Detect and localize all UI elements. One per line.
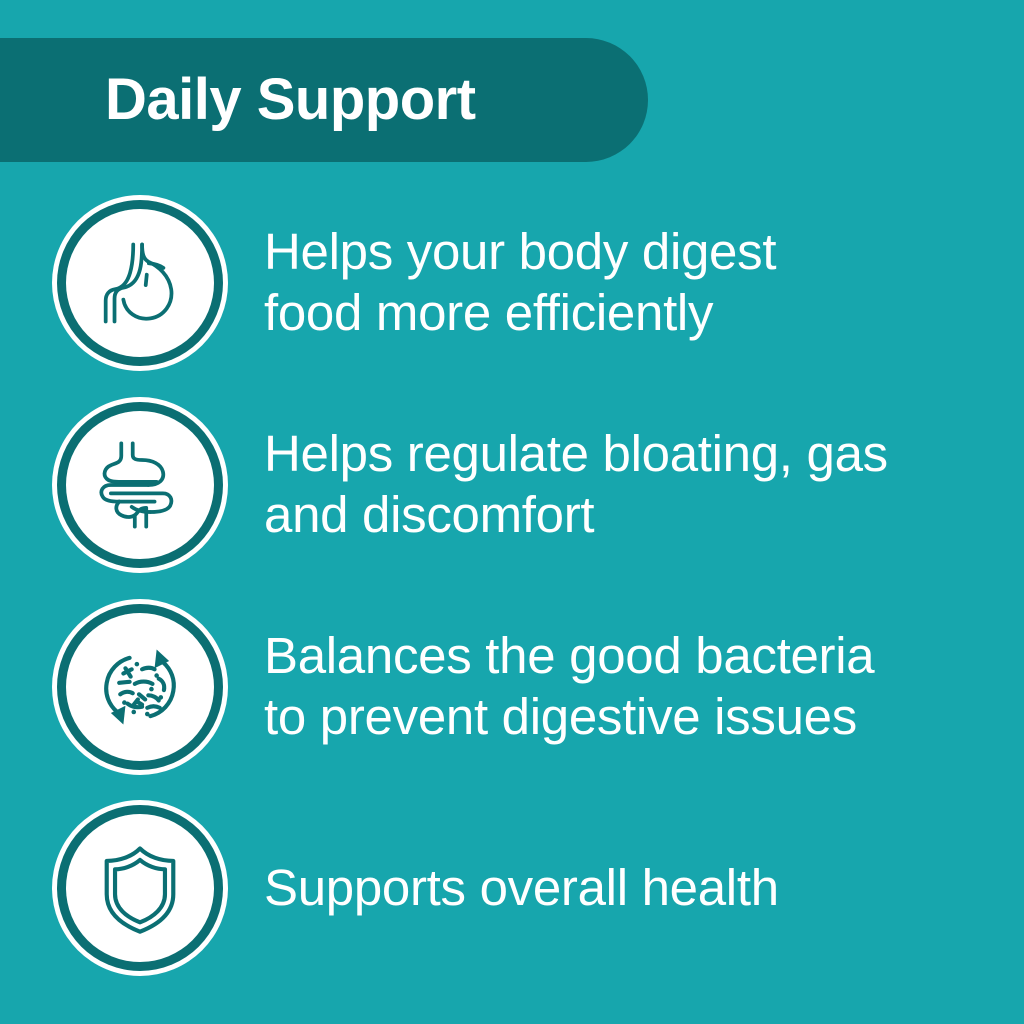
stomach-icon: [88, 231, 192, 335]
icon-badge: [52, 195, 228, 371]
benefit-line-2: and discomfort: [264, 485, 888, 546]
benefit-line-1: Supports overall health: [264, 858, 779, 919]
header-banner: Daily Support: [0, 38, 648, 162]
icon-badge: [52, 397, 228, 573]
benefit-item: Balances the good bacteria to prevent di…: [0, 586, 1024, 788]
benefit-line-1: Helps regulate bloating, gas: [264, 424, 888, 485]
benefit-text: Helps regulate bloating, gas and discomf…: [264, 424, 888, 545]
benefit-list: Helps your body digest food more efficie…: [0, 182, 1024, 988]
bacteria-balance-icon: [88, 635, 192, 739]
benefit-item: Helps regulate bloating, gas and discomf…: [0, 384, 1024, 586]
benefit-line-1: Balances the good bacteria: [264, 626, 874, 687]
benefit-line-1: Helps your body digest: [264, 222, 776, 283]
benefit-line-2: to prevent digestive issues: [264, 687, 874, 748]
shield-icon: [88, 836, 192, 940]
benefit-item: Helps your body digest food more efficie…: [0, 182, 1024, 384]
benefit-item: Supports overall health: [0, 788, 1024, 988]
benefit-line-2: food more efficiently: [264, 283, 776, 344]
benefit-text: Supports overall health: [264, 858, 779, 919]
intestine-icon: [88, 433, 192, 537]
icon-badge: [52, 599, 228, 775]
benefit-text: Balances the good bacteria to prevent di…: [264, 626, 874, 747]
daily-support-infographic: Daily Support Helps your body digest: [0, 0, 1024, 1024]
icon-badge: [52, 800, 228, 976]
page-title: Daily Support: [105, 71, 476, 129]
benefit-text: Helps your body digest food more efficie…: [264, 222, 776, 343]
